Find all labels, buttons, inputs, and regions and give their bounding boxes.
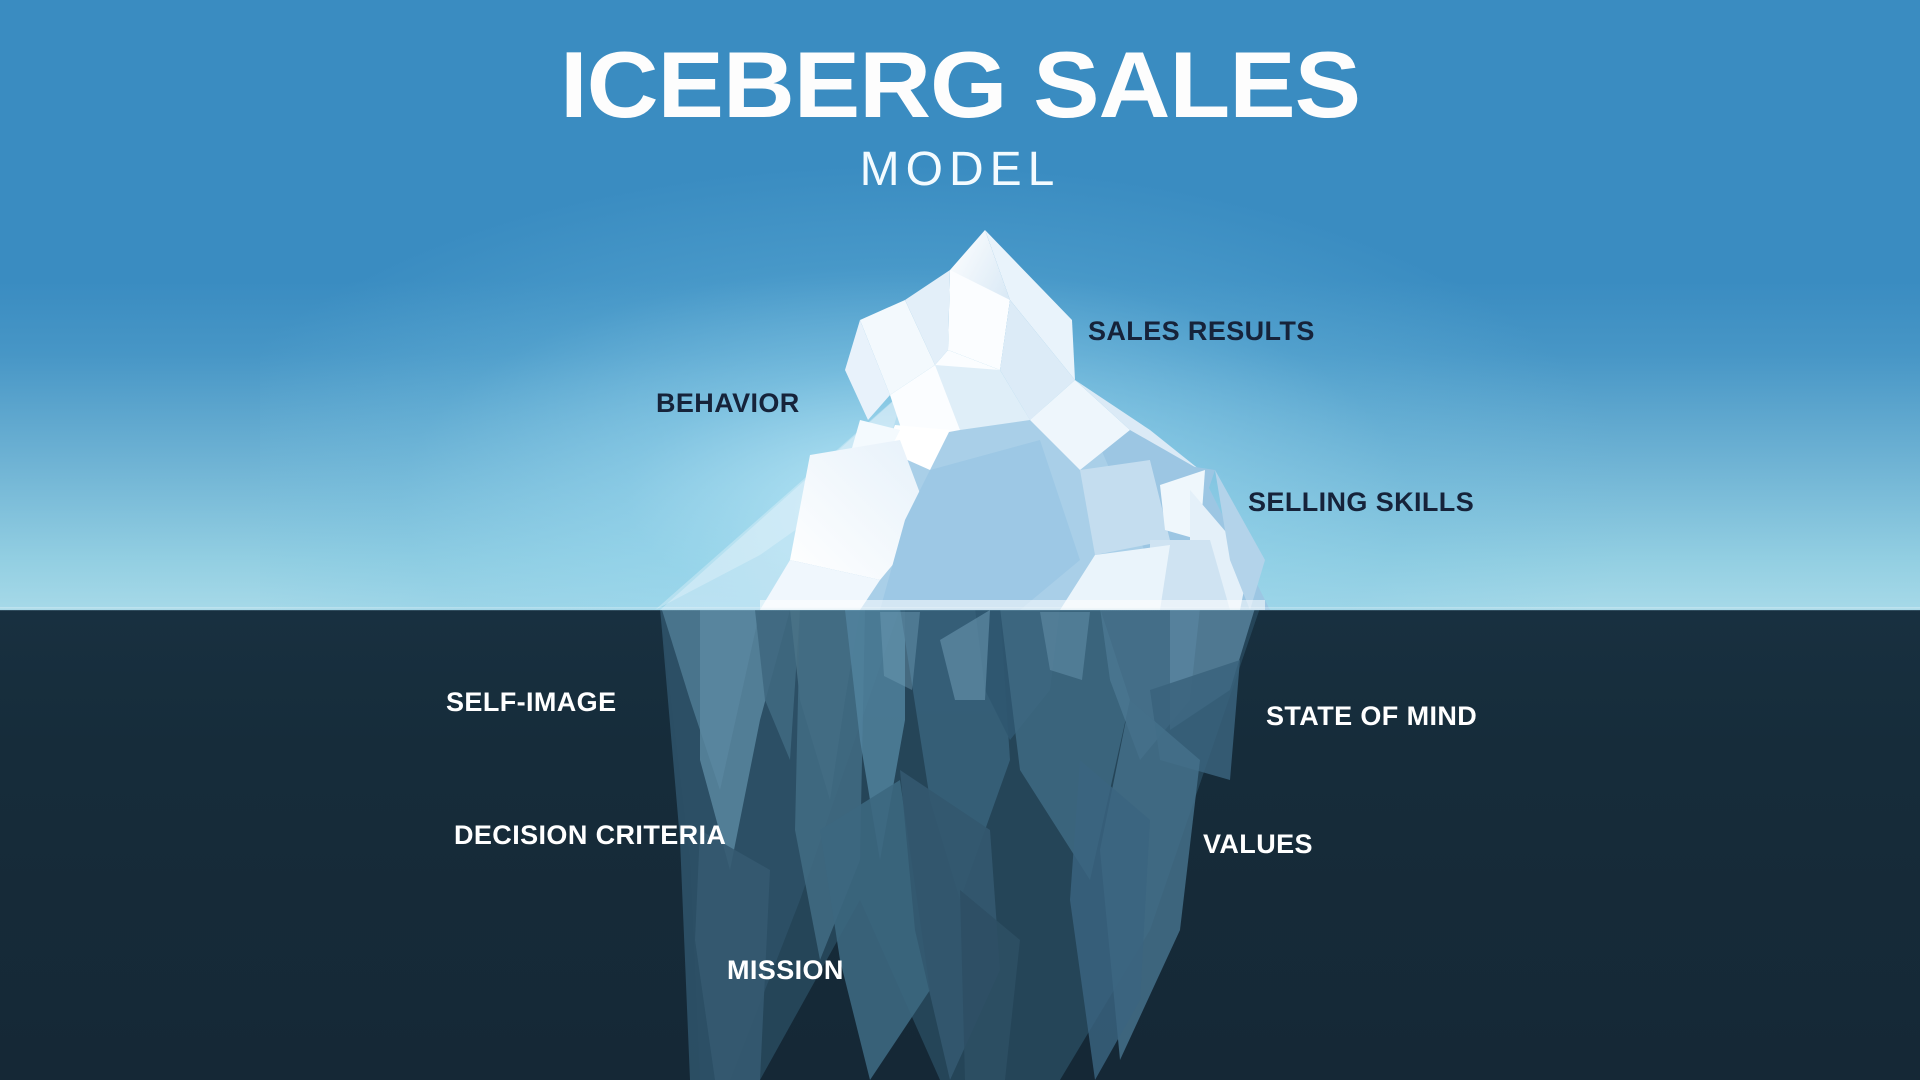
- label-selling-skills: SELLING SKILLS: [1248, 489, 1474, 516]
- label-decision-criteria: DECISION CRITERIA: [454, 822, 726, 849]
- iceberg-underwater: [660, 608, 1260, 1080]
- label-state-of-mind: STATE OF MIND: [1266, 703, 1477, 730]
- label-sales-results: SALES RESULTS: [1088, 318, 1315, 345]
- page-title: ICEBERG SALES: [0, 38, 1920, 132]
- label-mission: MISSION: [727, 957, 844, 984]
- label-behavior: BEHAVIOR: [656, 390, 800, 417]
- label-self-image: SELF-IMAGE: [446, 689, 617, 716]
- iceberg-sales-model-infographic: ICEBERG SALES MODEL SALES RESULTS BEHAVI…: [0, 0, 1920, 1080]
- waterline-divider: [0, 607, 1920, 611]
- page-subtitle: MODEL: [0, 146, 1920, 194]
- iceberg-above-water: [655, 230, 1270, 610]
- label-values: VALUES: [1203, 831, 1313, 858]
